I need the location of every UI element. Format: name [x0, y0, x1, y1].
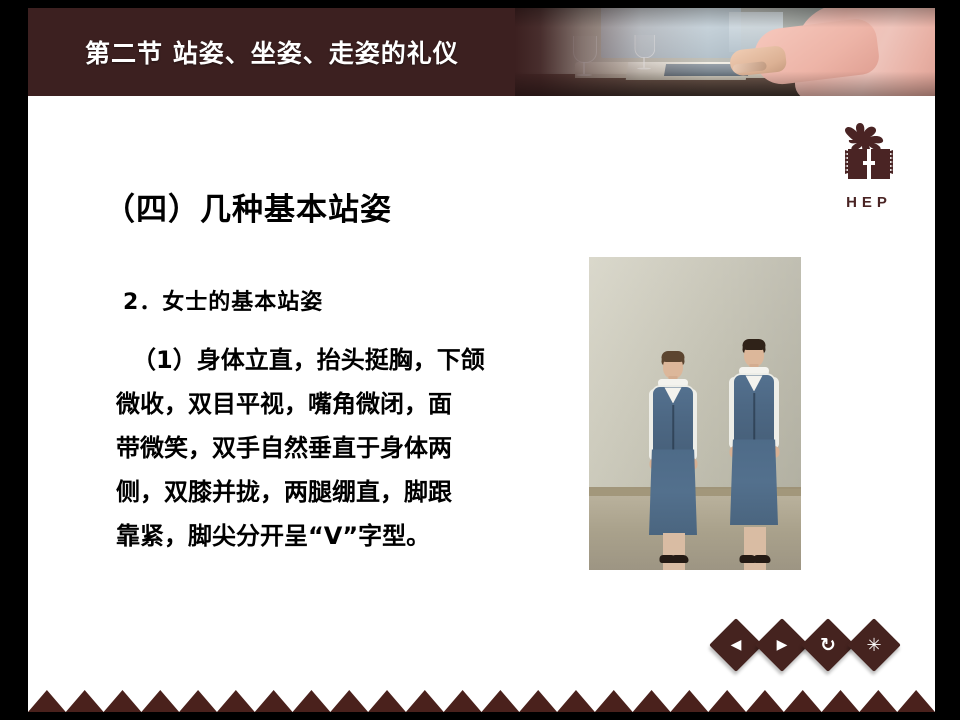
- presentation-slide: 第二节 站姿、坐姿、走姿的礼仪 HEP （四）几种基: [28, 8, 935, 712]
- section-heading: （四）几种基本站姿: [104, 184, 392, 229]
- photo-person-right: [722, 339, 786, 557]
- restart-slideshow-button[interactable]: ↻: [809, 626, 847, 664]
- slide-header-bar: 第二节 站姿、坐姿、走姿的礼仪: [28, 8, 935, 96]
- hep-publisher-logo: HEP: [823, 116, 915, 216]
- subsection-heading: 2．女士的基本站姿: [123, 284, 323, 316]
- standing-posture-photo: [589, 257, 801, 570]
- next-slide-button[interactable]: ▶: [763, 626, 801, 664]
- slide-navigation-controls[interactable]: ◀ ▶ ↻ ✳: [717, 626, 893, 664]
- photo-person-left: [641, 351, 705, 557]
- hep-logo-text: HEP: [823, 194, 915, 211]
- body-paragraph: （1）身体立直，抬头挺胸，下颌 微收，双目平视，嘴角微闭，面 带微笑，双手自然垂…: [116, 338, 566, 558]
- previous-slide-button[interactable]: ◀: [717, 626, 755, 664]
- slide-stage: 第二节 站姿、坐姿、走姿的礼仪 HEP （四）几种基: [0, 0, 960, 720]
- menu-button[interactable]: ✳: [855, 626, 893, 664]
- asterisk-icon: ✳: [855, 626, 893, 664]
- body-line: 微收，双目平视，嘴角微闭，面: [116, 382, 566, 426]
- sawtooth-footer-border: [28, 690, 935, 712]
- open-book-emblem-icon: [823, 116, 915, 192]
- header-decorative-photo: [515, 8, 935, 96]
- body-line: 带微笑，双手自然垂直于身体两: [116, 426, 566, 470]
- body-line: 侧，双膝并拢，两腿绷直，脚跟: [116, 470, 566, 514]
- slide-header-title: 第二节 站姿、坐姿、走姿的礼仪: [85, 8, 459, 96]
- triangle-right-icon: ▶: [763, 626, 801, 664]
- body-line: （1）身体立直，抬头挺胸，下颌: [116, 338, 566, 382]
- refresh-arrow-icon: ↻: [809, 626, 847, 664]
- body-line: 靠紧，脚尖分开呈“V”字型。: [116, 514, 566, 558]
- triangle-left-icon: ◀: [717, 626, 755, 664]
